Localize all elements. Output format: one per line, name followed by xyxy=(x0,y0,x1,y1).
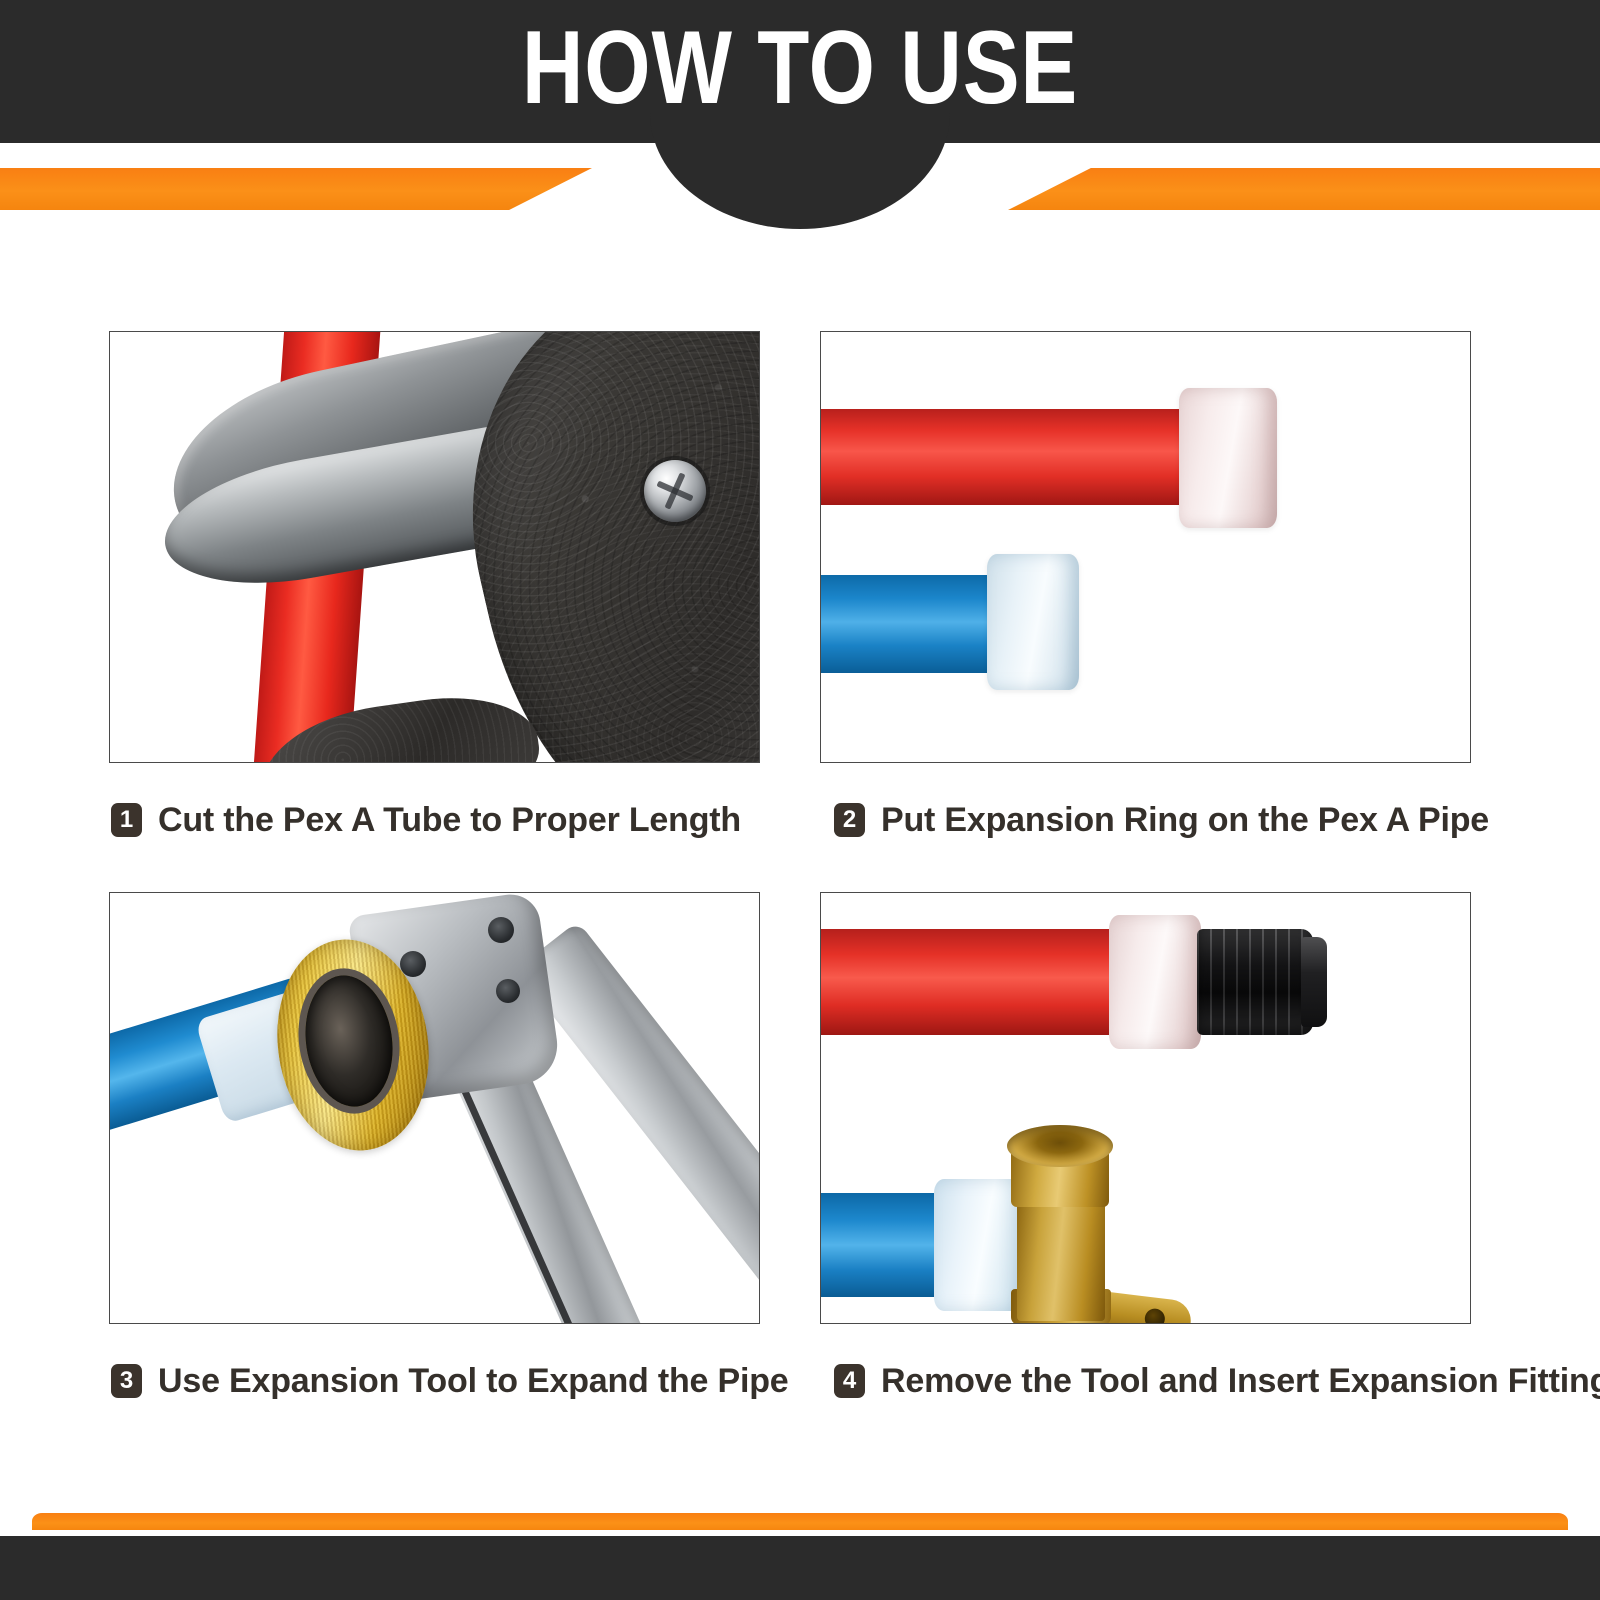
step-number-badge: 3 xyxy=(111,1364,142,1398)
step-4-caption: 4 Remove the Tool and Insert Expansion F… xyxy=(820,1352,1471,1410)
step-number-badge: 2 xyxy=(834,803,865,837)
blue-pex-pipe xyxy=(820,1193,941,1297)
step-caption-text: Cut the Pex A Tube to Proper Length xyxy=(158,801,741,840)
step-caption-text: Remove the Tool and Insert Expansion Fit… xyxy=(881,1362,1600,1401)
pivot-screw-icon xyxy=(644,460,706,522)
step-4-photo-frame xyxy=(820,892,1471,1324)
page-header: HOW TO USE xyxy=(0,0,1600,232)
black-poly-expansion-fitting xyxy=(1197,929,1313,1035)
header-accent-bar-right xyxy=(1008,168,1600,210)
photo-expansion-tool xyxy=(110,893,759,1323)
step-1-caption: 1 Cut the Pex A Tube to Proper Length xyxy=(109,791,760,849)
red-pex-pipe xyxy=(820,409,1187,505)
photo-expansion-rings-on-pipes xyxy=(821,332,1470,762)
expansion-ring-on-red-pipe xyxy=(1109,915,1201,1049)
footer-dark-bar xyxy=(0,1536,1600,1600)
expansion-ring-on-red-pipe xyxy=(1179,388,1277,528)
footer-accent-bar xyxy=(32,1513,1568,1530)
tool-pin-hole-icon xyxy=(488,917,514,943)
black-fitting-tip xyxy=(1301,937,1327,1027)
red-pex-pipe xyxy=(820,929,1115,1035)
step-caption-text: Use Expansion Tool to Expand the Pipe xyxy=(158,1362,789,1401)
blue-pex-pipe xyxy=(820,575,995,673)
photo-pex-tube-cutter xyxy=(110,332,759,762)
step-card-4: 4 Remove the Tool and Insert Expansion F… xyxy=(820,892,1471,1410)
step-3-photo-frame xyxy=(109,892,760,1324)
tool-pin-hole-icon xyxy=(496,979,520,1003)
brass-elbow-body xyxy=(1017,1191,1105,1321)
step-2-photo-frame xyxy=(820,331,1471,763)
photo-expansion-fittings-inserted xyxy=(821,893,1470,1323)
step-number-badge: 4 xyxy=(834,1364,865,1398)
page-title: HOW TO USE xyxy=(144,8,1456,128)
step-card-2: 2 Put Expansion Ring on the Pex A Pipe xyxy=(820,331,1471,849)
header-center-tab xyxy=(650,113,950,229)
header-accent-bar-left xyxy=(0,168,592,210)
step-number-badge: 1 xyxy=(111,803,142,837)
brass-elbow-socket xyxy=(1007,1125,1113,1167)
step-caption-text: Put Expansion Ring on the Pex A Pipe xyxy=(881,801,1489,840)
step-card-3: 3 Use Expansion Tool to Expand the Pipe xyxy=(109,892,760,1410)
step-card-1: 1 Cut the Pex A Tube to Proper Length xyxy=(109,331,760,849)
step-1-photo-frame xyxy=(109,331,760,763)
step-2-caption: 2 Put Expansion Ring on the Pex A Pipe xyxy=(820,791,1471,849)
expansion-ring-on-blue-pipe xyxy=(987,554,1079,690)
steps-grid: 1 Cut the Pex A Tube to Proper Length 2 … xyxy=(109,331,1471,1457)
step-3-caption: 3 Use Expansion Tool to Expand the Pipe xyxy=(109,1352,760,1410)
